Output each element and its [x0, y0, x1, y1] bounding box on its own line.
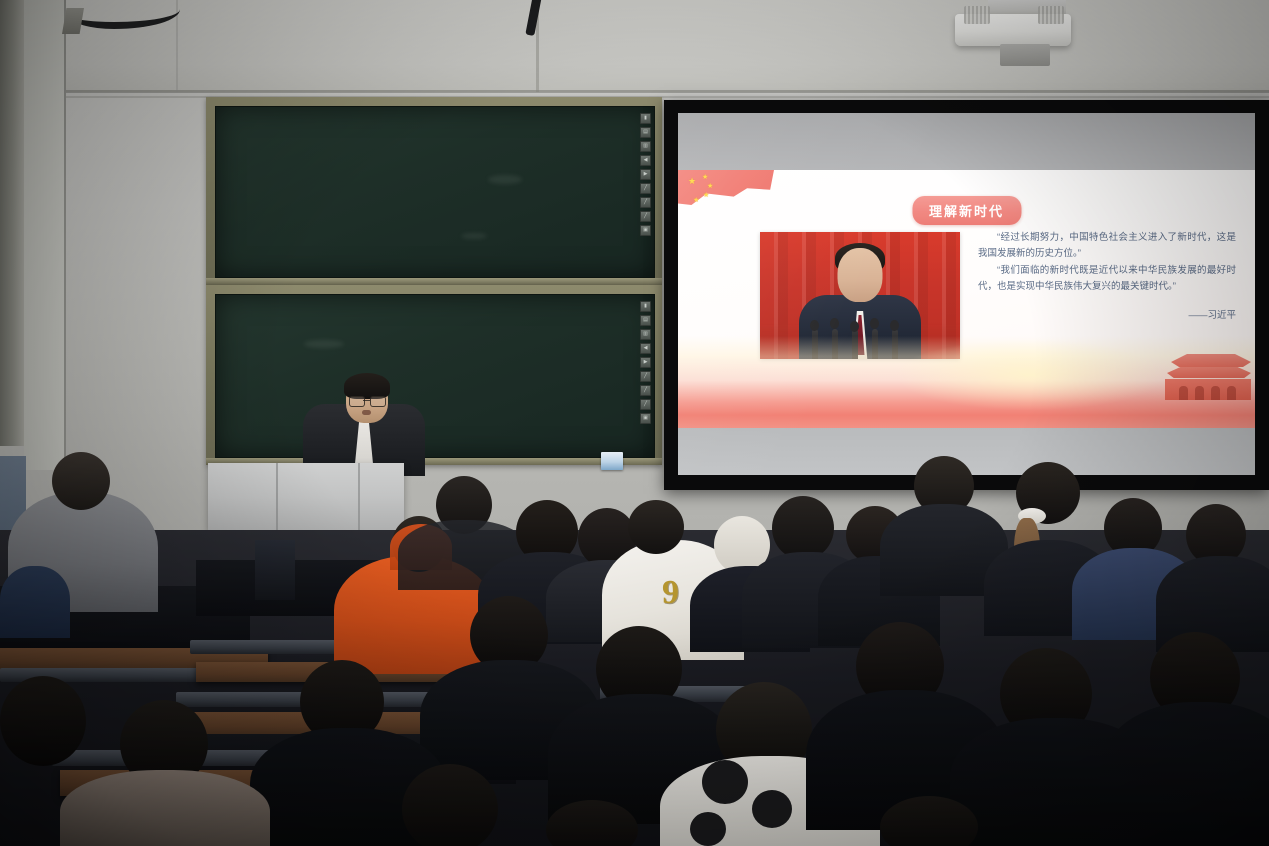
gate-arch — [1227, 386, 1236, 400]
gate-arch — [1179, 386, 1188, 400]
audience-head — [52, 452, 110, 510]
glasses-right-lens — [370, 396, 386, 407]
audience-head-front — [0, 676, 86, 766]
microphone-head-icon — [810, 320, 819, 331]
podium-desk — [208, 463, 404, 531]
audience-head — [772, 496, 834, 560]
board-ctrl-icon[interactable]: ╱ — [640, 183, 651, 194]
projection-screen: ★ ★ ★ ★ ★ 理解新时代 — [664, 100, 1269, 490]
board-ctrl-icon[interactable]: ▤ — [640, 315, 651, 326]
projector-vent — [1038, 6, 1064, 24]
slide-quote-attribution: ——习近平 — [978, 307, 1236, 321]
board-ctrl-icon[interactable]: ╱ — [640, 197, 651, 208]
left-door-frame — [24, 0, 66, 470]
gate-lower-roof — [1167, 367, 1251, 378]
chalk-smudge — [461, 233, 487, 239]
ledge-object — [601, 452, 623, 470]
board-ctrl-icon[interactable]: ╱ — [640, 399, 651, 410]
chalkboard-control-strip[interactable]: ▮ ▤ ▥ ◀ ▶ ╱ ╱ ╱ ▣ — [640, 113, 651, 236]
board-ctrl-icon[interactable]: ◀ — [640, 343, 651, 354]
chalk-ledge — [206, 278, 662, 285]
board-ctrl-icon[interactable]: ▤ — [640, 127, 651, 138]
upper-chalkboard-frame: ▮ ▤ ▥ ◀ ▶ ╱ ╱ ╱ ▣ — [206, 97, 662, 285]
screen-display-area: ★ ★ ★ ★ ★ 理解新时代 — [678, 113, 1255, 475]
board-ctrl-icon[interactable]: ◀ — [640, 155, 651, 166]
flag-star-icon: ★ — [707, 183, 713, 190]
board-ctrl-icon[interactable]: ▮ — [640, 301, 651, 312]
gate-upper-roof — [1171, 354, 1251, 367]
glasses-bridge — [363, 400, 370, 401]
quote-paragraph-2: “我们面临的新时代既是近代以来中华民族发展的最好时代，也是实现中华民族伟大复兴的… — [978, 263, 1236, 295]
chalkboard-control-strip[interactable]: ▮ ▤ ▥ ◀ ▶ ╱ ╱ ╱ ▣ — [640, 301, 651, 424]
board-ctrl-icon[interactable]: ▣ — [640, 413, 651, 424]
upper-wall-panel — [0, 0, 1269, 92]
lecturer-mouth — [362, 410, 371, 415]
board-ctrl-icon[interactable]: ▶ — [640, 169, 651, 180]
slide-title-badge: 理解新时代 — [912, 196, 1021, 225]
gate-wall — [1165, 379, 1251, 400]
chalk-smudge — [304, 340, 344, 348]
lecture-hall-photo: ▮ ▤ ▥ ◀ ▶ ╱ ╱ ╱ ▣ ▮ ▤ ▥ ◀ ▶ ╱ ╱ — [0, 0, 1269, 846]
left-wall-column — [0, 0, 24, 446]
board-ctrl-icon[interactable]: ▮ — [640, 113, 651, 124]
board-ctrl-icon[interactable]: ▣ — [640, 225, 651, 236]
board-ctrl-icon[interactable]: ▥ — [640, 141, 651, 152]
board-ctrl-icon[interactable]: ╱ — [640, 371, 651, 382]
podium-seam — [358, 463, 360, 531]
tiananmen-gate-icon — [1165, 354, 1251, 400]
projector-vent — [964, 6, 990, 24]
microphone-head-icon — [890, 320, 899, 331]
lower-chalkboard-surface: ▮ ▤ ▥ ◀ ▶ ╱ ╱ ╱ ▣ — [215, 294, 655, 458]
audience-member-blue — [0, 566, 70, 638]
flag-star-icon: ★ — [688, 178, 696, 185]
chalk-smudge — [488, 175, 522, 184]
lower-chalkboard-frame: ▮ ▤ ▥ ◀ ▶ ╱ ╱ ╱ ▣ — [206, 285, 662, 465]
slide-letterbox-top — [678, 113, 1255, 170]
presentation-slide: ★ ★ ★ ★ ★ 理解新时代 — [678, 170, 1255, 428]
board-ctrl-icon[interactable]: ▶ — [640, 357, 651, 368]
garment-pattern-dot — [690, 812, 726, 846]
slide-quote-block: “经过长期努力，中国特色社会主义进入了新时代，这是我国发展新的历史方位。” “我… — [978, 230, 1236, 296]
flag-star-icon: ★ — [703, 192, 709, 199]
glasses-left-lens — [349, 396, 365, 407]
photo-speaker-face — [838, 248, 883, 302]
garment-pattern-dot — [702, 760, 748, 804]
gate-arch — [1195, 386, 1204, 400]
microphone-head-icon — [850, 321, 859, 332]
jersey-number: 9 — [662, 574, 679, 612]
quote-paragraph-1: “经过长期努力，中国特色社会主义进入了新时代，这是我国发展新的历史方位。” — [978, 230, 1236, 262]
audience-shoulders-front — [1100, 702, 1269, 846]
wall-seam — [0, 90, 1269, 93]
audience-head-front — [402, 764, 498, 846]
desk-side-panel — [255, 540, 295, 600]
slide-sun-glow — [897, 340, 1162, 410]
board-ctrl-icon[interactable]: ╱ — [640, 211, 651, 222]
projector-lens — [1000, 44, 1050, 66]
upper-chalkboard-surface: ▮ ▤ ▥ ◀ ▶ ╱ ╱ ╱ ▣ — [215, 106, 655, 278]
podium-seam — [276, 463, 278, 531]
glasses-icon — [349, 396, 385, 405]
board-ctrl-icon[interactable]: ╱ — [640, 385, 651, 396]
flag-star-icon: ★ — [693, 197, 699, 204]
gate-arch — [1211, 386, 1220, 400]
garment-pattern-dot — [752, 790, 792, 828]
microphone-head-icon — [830, 318, 839, 329]
flag-star-icon: ★ — [702, 174, 708, 181]
board-ctrl-icon[interactable]: ▥ — [640, 329, 651, 340]
audience-member-light-top — [60, 770, 270, 846]
audience-head — [628, 500, 684, 554]
microphone-head-icon — [870, 318, 879, 329]
